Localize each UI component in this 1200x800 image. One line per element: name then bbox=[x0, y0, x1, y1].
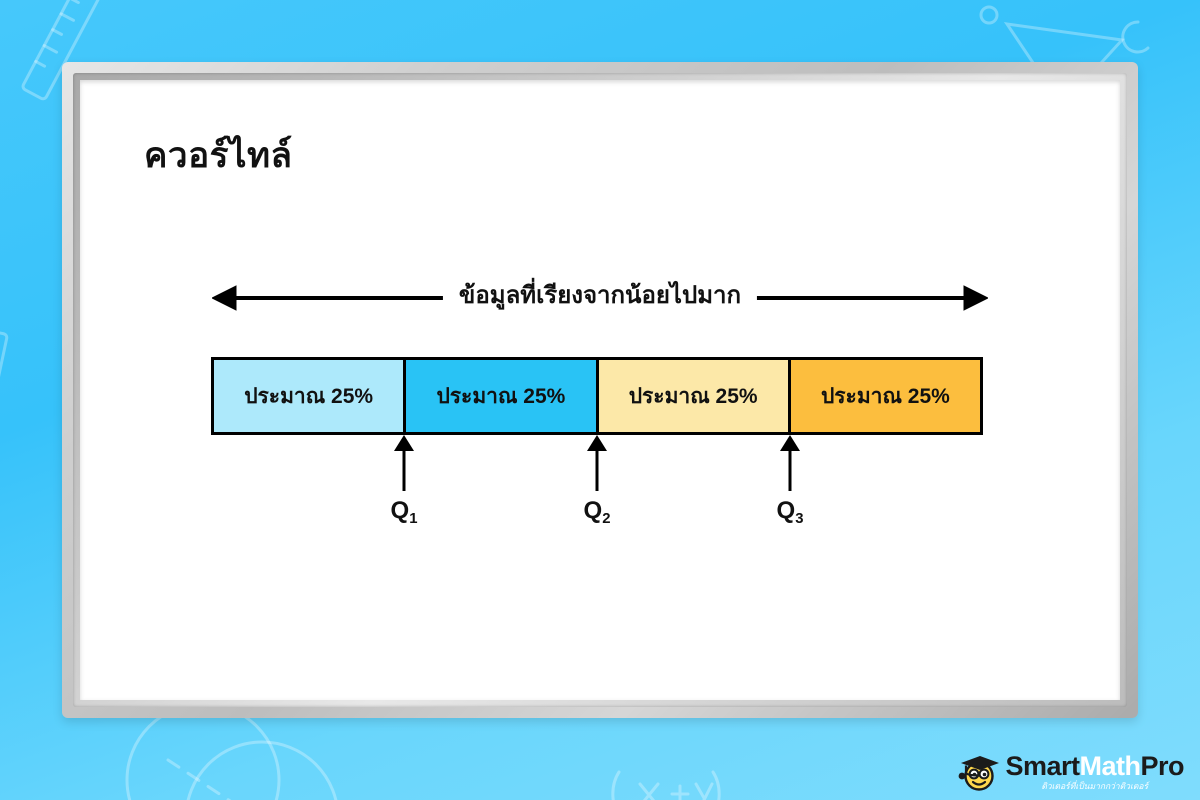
quartile-marker: Q2 bbox=[567, 435, 627, 525]
range-arrow: ข้อมูลที่เรียงจากน้อยไปมาก bbox=[212, 276, 988, 320]
marker-arrow-up-icon bbox=[393, 435, 415, 493]
marker-arrow-up-icon bbox=[779, 435, 801, 493]
logo-smart: Smart bbox=[1005, 751, 1079, 781]
quartile-markers: Q1Q2Q3 bbox=[211, 435, 983, 565]
quartile-cell: ประมาณ 25% bbox=[791, 360, 980, 432]
quartile-marker: Q1 bbox=[374, 435, 434, 525]
range-arrow-label: ข้อมูลที่เรียงจากน้อยไปมาก bbox=[443, 276, 757, 316]
marker-arrow-up-icon bbox=[586, 435, 608, 493]
slide-canvas: ควอร์ไทล์ ข้อมูลที่เรียงจากน้อยไปมาก ประ… bbox=[0, 0, 1200, 800]
venn-doodle-icon bbox=[127, 704, 338, 800]
quartile-marker-label: Q3 bbox=[760, 497, 820, 525]
quartile-marker: Q3 bbox=[760, 435, 820, 525]
arrow-left-icon bbox=[212, 286, 236, 310]
quartile-cell: ประมาณ 25% bbox=[599, 360, 791, 432]
logo-text: SmartMathPro bbox=[1005, 753, 1184, 780]
expression-doodle-icon bbox=[613, 772, 719, 800]
logo-math: Math bbox=[1079, 751, 1140, 781]
small-ruler-doodle-icon bbox=[0, 330, 8, 425]
quartile-bar: ประมาณ 25%ประมาณ 25%ประมาณ 25%ประมาณ 25% bbox=[211, 357, 983, 435]
brand-logo[interactable]: SmartMathPro ติวเตอร์ที่เป็นมากกว่าติวเต… bbox=[953, 752, 1184, 792]
quartile-marker-label: Q1 bbox=[374, 497, 434, 525]
quartile-cell: ประมาณ 25% bbox=[214, 360, 406, 432]
logo-tagline: ติวเตอร์ที่เป็นมากกว่าติวเตอร์ bbox=[1041, 782, 1148, 791]
whiteboard-surface: ควอร์ไทล์ ข้อมูลที่เรียงจากน้อยไปมาก ประ… bbox=[80, 80, 1120, 700]
quartile-marker-label: Q2 bbox=[567, 497, 627, 525]
logo-wordmark: SmartMathPro ติวเตอร์ที่เป็นมากกว่าติวเต… bbox=[1005, 753, 1184, 791]
quartile-cell: ประมาณ 25% bbox=[406, 360, 598, 432]
logo-pro: Pro bbox=[1140, 751, 1184, 781]
whiteboard-frame: ควอร์ไทล์ ข้อมูลที่เรียงจากน้อยไปมาก ประ… bbox=[62, 62, 1138, 718]
arrow-right-icon bbox=[964, 286, 988, 310]
page-title: ควอร์ไทล์ bbox=[144, 128, 293, 183]
graduate-cap-mascot-icon bbox=[953, 752, 999, 792]
whiteboard-bevel: ควอร์ไทล์ ข้อมูลที่เรียงจากน้อยไปมาก ประ… bbox=[73, 73, 1127, 707]
